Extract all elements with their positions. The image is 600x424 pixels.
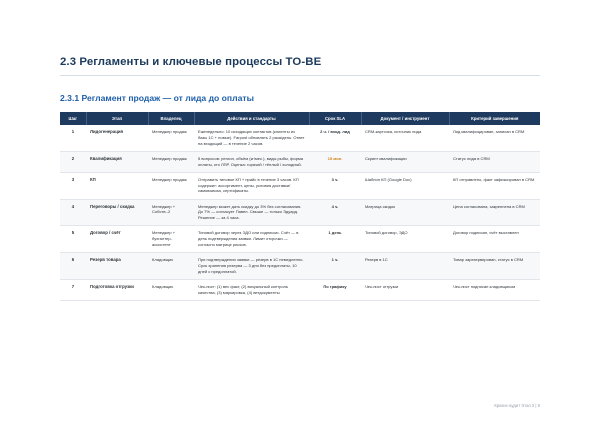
cell-criterion: Цена согласована, закреплена в CRM [449,199,540,226]
cell-action: Типовой договор через ЭДО или подписью. … [194,226,309,253]
col-header-document: Документ / инструмент [361,112,449,125]
cell-action: Чек-лист: (1) вес факт, (2) визуальный к… [194,279,309,300]
cell-stage: Переговоры / скидка [86,199,148,226]
cell-stage: КП [86,172,148,199]
cell-step: 4 [60,199,86,226]
cell-owner: Менеджер + Собств.-2 [148,199,194,226]
cell-owner: Менеджер + бухгалтер-ассистент [148,226,194,253]
cell-step: 6 [60,253,86,280]
cell-sla: 1 ч. [309,253,361,280]
cell-criterion: КП отправлено, факт зафиксирован в CRM [449,172,540,199]
table-row: 2КвалификацияМенеджер продаж5 вопросов: … [60,151,540,172]
cell-stage: Договор / счёт [86,226,148,253]
cell-action: Менеджер может дать скидку до 3% без сог… [194,199,309,226]
cell-owner: Кладовщик [148,253,194,280]
table-body: 1ЛидогенерацияМенеджер продажЕженедельно… [60,125,540,300]
cell-document: Типовой договор, ЭДО [361,226,449,253]
cell-owner: Кладовщик [148,279,194,300]
document-page: 2.3 Регламенты и ключевые процессы TO-BE… [0,0,600,424]
cell-step: 2 [60,151,86,172]
cell-document: CRM-карточка, источник лида [361,125,449,151]
cell-action: При подтверждении заявки — резерв в 1С н… [194,253,309,280]
table-row: 3КПМенеджер продажОтправить типовое КП +… [60,172,540,199]
cell-stage: Квалификация [86,151,148,172]
cell-action: Еженедельно: 10 исходящих контактов (кли… [194,125,309,151]
cell-document: Резерв в 1С [361,253,449,280]
table-row: 1ЛидогенерацияМенеджер продажЕженедельно… [60,125,540,151]
cell-step: 3 [60,172,86,199]
cell-sla: 2 ч. / вход. лид [309,125,361,151]
cell-stage: Резерв товара [86,253,148,280]
cell-action: 5 вопросов: регион, объём (кг/мес.), вид… [194,151,309,172]
col-header-criterion: Критерий завершения [449,112,540,125]
cell-owner: Менеджер продаж [148,125,194,151]
cell-sla: 3 ч. [309,172,361,199]
page-title: 2.3 Регламенты и ключевые процессы TO-BE [60,56,540,68]
page-footer: Кризис-аудит Этап 2 | 5 [494,403,540,408]
col-header-stage: Этап [86,112,148,125]
cell-criterion: Чек-лист подписан кладовщиком [449,279,540,300]
cell-document: Матрица скидок [361,199,449,226]
cell-step: 5 [60,226,86,253]
cell-stage: Лидогенерация [86,125,148,151]
cell-owner: Менеджер продаж [148,151,194,172]
table-header-row: Шаг Этап Владелец Действия и стандарты С… [60,112,540,125]
cell-criterion: Товар зарезервирован, статус в CRM [449,253,540,280]
col-header-sla: Срок SLA [309,112,361,125]
cell-criterion: Статус лида в CRM [449,151,540,172]
cell-action: Отправить типовое КП + прайс в течение 3… [194,172,309,199]
cell-sla: 4 ч. [309,199,361,226]
table-row: 6Резерв товараКладовщикПри подтверждении… [60,253,540,280]
cell-document: Скрипт квалификации [361,151,449,172]
table-header: Шаг Этап Владелец Действия и стандарты С… [60,112,540,125]
cell-owner: Менеджер продаж [148,172,194,199]
cell-sla: 1 день [309,226,361,253]
sales-process-table: Шаг Этап Владелец Действия и стандарты С… [60,112,540,301]
cell-step: 1 [60,125,86,151]
table-row: 5Договор / счётМенеджер + бухгалтер-асси… [60,226,540,253]
cell-document: Чек-лист отгрузки [361,279,449,300]
title-divider [60,75,540,76]
col-header-step: Шаг [60,112,86,125]
cell-sla: 15 мин. [309,151,361,172]
cell-stage: Подготовка отгрузки [86,279,148,300]
cell-sla: По графику [309,279,361,300]
col-header-action: Действия и стандарты [194,112,309,125]
table-row: 7Подготовка отгрузкиКладовщикЧек-лист: (… [60,279,540,300]
cell-criterion: Лид квалифицирован, записан в CRM [449,125,540,151]
subsection-title: 2.3.1 Регламент продаж — от лида до опла… [60,93,540,103]
cell-document: Шаблон КП (Google Doc) [361,172,449,199]
cell-step: 7 [60,279,86,300]
table-row: 4Переговоры / скидкаМенеджер + Собств.-2… [60,199,540,226]
cell-criterion: Договор подписан, счёт выставлен [449,226,540,253]
col-header-owner: Владелец [148,112,194,125]
